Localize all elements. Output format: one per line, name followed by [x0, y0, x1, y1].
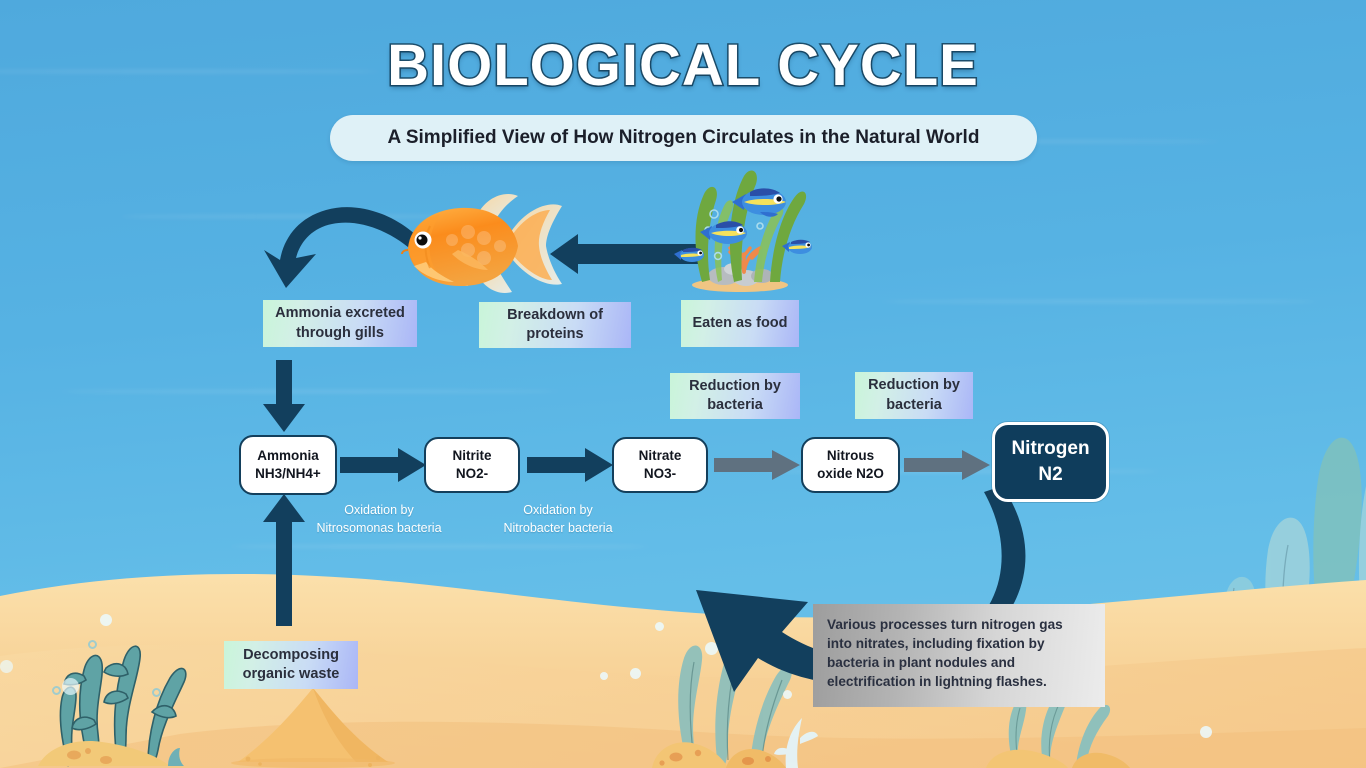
- caption-line2: Nitrobacter bacteria: [483, 520, 633, 538]
- bubble: [630, 668, 641, 679]
- caption-line2: Nitrosomonas bacteria: [300, 520, 458, 538]
- node-ammonia[interactable]: Ammonia NH3/NH4+: [239, 435, 337, 495]
- water-caustic: [60, 390, 560, 393]
- node-nitrous-oxide-line1: Nitrous: [817, 447, 884, 465]
- node-nitrogen-line2: N2: [1011, 462, 1089, 488]
- label-ammonia-excreted: Ammonia excreted through gills: [263, 300, 417, 347]
- bubble-ring: [52, 686, 61, 695]
- caption-oxidation-nitrobacter: Oxidation by Nitrobacter bacteria: [483, 502, 633, 538]
- arrow-nitrate-to-nitrous-oxide: [714, 450, 800, 480]
- bubble-ring: [88, 640, 97, 649]
- caption-line1: Oxidation by: [483, 502, 633, 520]
- seaweed-with-fish-illustration: [672, 168, 812, 292]
- caption-line1: Oxidation by: [300, 502, 458, 520]
- blue-fish: [674, 248, 704, 262]
- bubble-ring: [152, 688, 161, 697]
- bubble: [783, 690, 792, 699]
- label-reduction-by-bacteria-2: Reduction by bacteria: [855, 372, 973, 419]
- node-nitrogen-line1: Nitrogen: [1011, 436, 1089, 462]
- page-subtitle: A Simplified View of How Nitrogen Circul…: [388, 127, 980, 149]
- node-nitrite-line1: Nitrite: [452, 447, 491, 465]
- subtitle-pill: A Simplified View of How Nitrogen Circul…: [330, 115, 1037, 161]
- node-ammonia-line1: Ammonia: [255, 447, 321, 465]
- node-nitrate[interactable]: Nitrate NO3-: [612, 437, 708, 493]
- arrow-nitrous-oxide-to-nitrogen: [904, 450, 990, 480]
- bubble: [100, 614, 112, 626]
- arrow-up-to-ammonia: [263, 494, 305, 626]
- arrow-nitrite-to-nitrate: [527, 448, 613, 482]
- node-nitrite-line2: NO2-: [452, 465, 491, 483]
- node-nitrate-line2: NO3-: [639, 465, 682, 483]
- bubble: [62, 678, 79, 695]
- water-caustic: [880, 300, 1320, 303]
- label-decomposing-organic-waste: Decomposing organic waste: [224, 641, 358, 689]
- label-eaten-as-food: Eaten as food: [681, 300, 799, 347]
- bubble: [655, 622, 664, 631]
- node-nitrous-oxide[interactable]: Nitrous oxide N2O: [801, 437, 900, 493]
- bubble: [600, 672, 608, 680]
- node-ammonia-line2: NH3/NH4+: [255, 465, 321, 483]
- note-fixation: Various processes turn nitrogen gas into…: [813, 604, 1105, 707]
- goldfish-illustration: [396, 192, 564, 298]
- node-nitrogen[interactable]: Nitrogen N2: [992, 422, 1109, 502]
- infographic-canvas: BIOLOGICAL CYCLE A Simplified View of Ho…: [0, 0, 1366, 768]
- bubble: [1200, 726, 1212, 738]
- page-title: BIOLOGICAL CYCLE: [0, 32, 1366, 99]
- node-nitrite[interactable]: Nitrite NO2-: [424, 437, 520, 493]
- node-nitrate-line1: Nitrate: [639, 447, 682, 465]
- sand-pile-illustration: [228, 686, 398, 768]
- arrow-ammonia-to-nitrite: [340, 448, 426, 482]
- bubble: [0, 660, 13, 673]
- label-breakdown-of-proteins: Breakdown of proteins: [479, 302, 631, 348]
- node-nitrous-oxide-line2: oxide N2O: [817, 465, 884, 483]
- arrow-down-to-ammonia: [263, 360, 305, 432]
- label-reduction-by-bacteria-1: Reduction by bacteria: [670, 373, 800, 419]
- caption-oxidation-nitrosomonas: Oxidation by Nitrosomonas bacteria: [300, 502, 458, 538]
